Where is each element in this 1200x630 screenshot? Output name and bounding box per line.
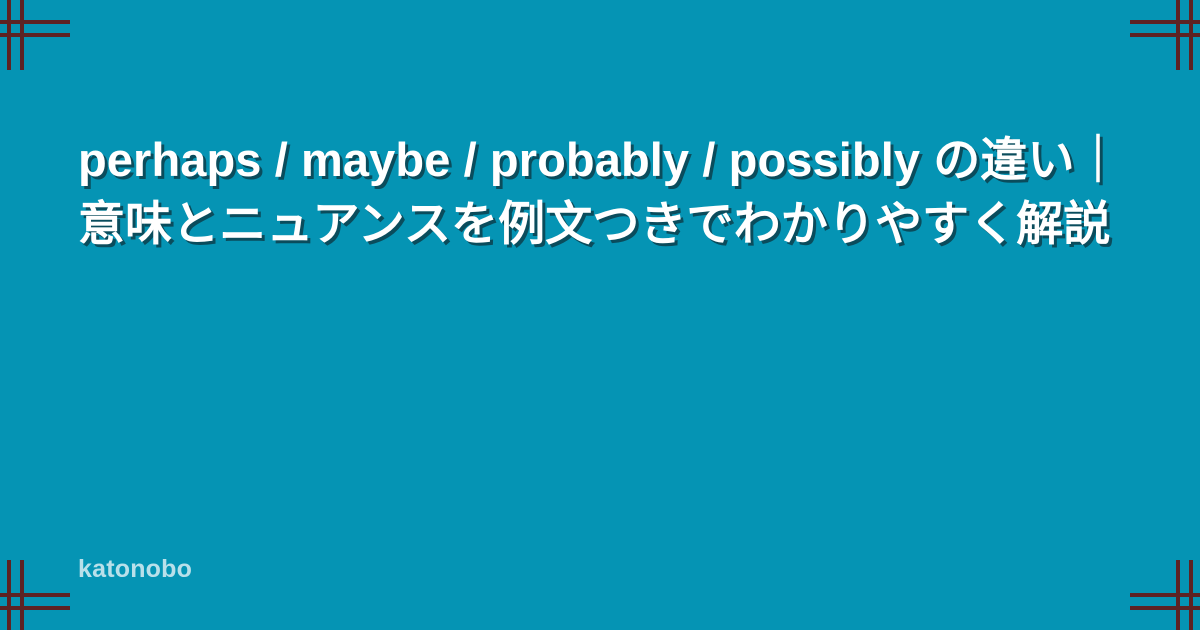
page-title: perhaps / maybe / probably / possibly の違… xyxy=(78,128,1122,256)
ornament-horizontal-line xyxy=(1130,33,1200,37)
corner-ornament-bottom-left xyxy=(0,560,70,630)
corner-ornament-top-right xyxy=(1130,0,1200,70)
ornament-horizontal-line xyxy=(1130,593,1200,597)
ornament-horizontal-line xyxy=(1130,20,1200,24)
card-content: perhaps / maybe / probably / possibly の違… xyxy=(78,0,1122,630)
og-image-card: perhaps / maybe / probably / possibly の違… xyxy=(0,0,1200,630)
ornament-horizontal-line xyxy=(1130,606,1200,610)
corner-ornament-top-left xyxy=(0,0,70,70)
site-name: katonobo xyxy=(78,557,192,582)
ornament-horizontal-line xyxy=(0,33,70,37)
ornament-horizontal-line xyxy=(0,606,70,610)
ornament-horizontal-line xyxy=(0,593,70,597)
corner-ornament-bottom-right xyxy=(1130,560,1200,630)
ornament-horizontal-line xyxy=(0,20,70,24)
